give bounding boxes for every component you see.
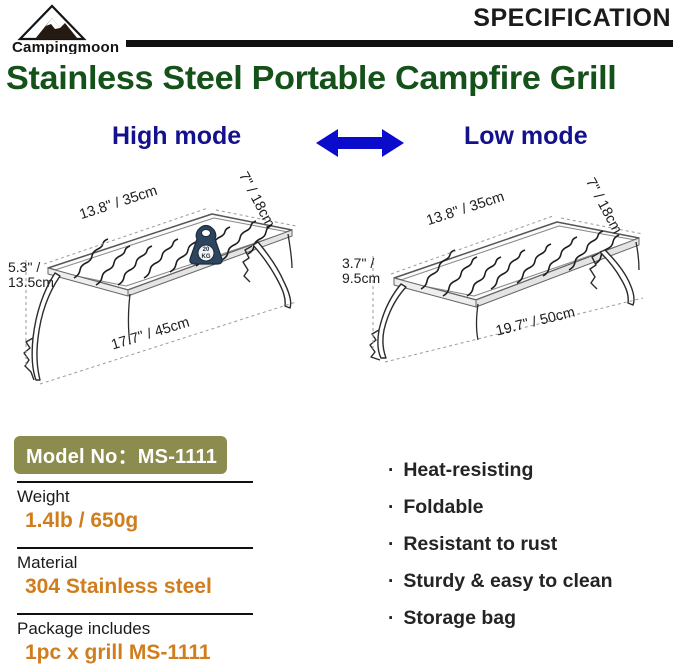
- feature-label: Storage bag: [403, 600, 516, 637]
- feature-item: · Heat-resisting: [388, 452, 674, 489]
- grill-low-illustration: [339, 172, 679, 404]
- dim-low-height: 3.7" / 9.5cm: [342, 256, 380, 286]
- specification-sheet: Campingmoon SPECIFICATION Stainless Stee…: [0, 0, 679, 670]
- feature-label: Resistant to rust: [403, 526, 557, 563]
- dim-high-height-line2: 13.5cm: [8, 275, 54, 290]
- spec-key-material: Material: [17, 552, 266, 574]
- bullet-icon: ·: [388, 600, 394, 637]
- spec-key-weight: Weight: [17, 486, 266, 508]
- feature-list: · Heat-resisting · Foldable · Resistant …: [388, 452, 674, 637]
- spec-value-weight: 1.4lb / 650g: [17, 508, 266, 534]
- section-title: SPECIFICATION: [473, 4, 671, 33]
- dim-high-height: 5.3" / 13.5cm: [8, 260, 54, 290]
- svg-text:KG: KG: [202, 254, 211, 260]
- feature-label: Foldable: [403, 489, 483, 526]
- page-header: Campingmoon SPECIFICATION: [0, 0, 679, 56]
- bullet-icon: ·: [388, 526, 394, 563]
- brand-wordmark: Campingmoon: [12, 39, 119, 54]
- spec-value-package: 1pc x grill MS-1111: [17, 640, 266, 666]
- mountain-icon: [20, 6, 84, 39]
- header-divider-bar: [126, 40, 673, 47]
- spec-row-material: Material 304 Stainless steel: [14, 549, 266, 606]
- bullet-icon: ·: [388, 563, 394, 600]
- feature-item: · Resistant to rust: [388, 526, 674, 563]
- product-title: Stainless Steel Portable Campfire Grill: [6, 58, 679, 98]
- dim-high-height-line1: 5.3" /: [8, 260, 54, 275]
- spec-value-material: 304 Stainless steel: [17, 574, 266, 600]
- bullet-icon: ·: [388, 489, 394, 526]
- feature-item: · Foldable: [388, 489, 674, 526]
- diagram-high-mode: 20 KG 13.8" / 35cm 7" / 18cm 5.3" / 13.5…: [0, 172, 340, 404]
- feature-label: Sturdy & easy to clean: [403, 563, 612, 600]
- feature-label: Heat-resisting: [403, 452, 533, 489]
- brand-logo: Campingmoon: [8, 2, 126, 54]
- model-number-badge: Model No：MS-1111: [14, 436, 227, 474]
- spec-table: Model No：MS-1111 Weight 1.4lb / 650g Mat…: [14, 436, 266, 670]
- mode-row: High mode Low mode: [0, 122, 679, 170]
- feature-item: · Sturdy & easy to clean: [388, 563, 674, 600]
- high-mode-label: High mode: [112, 122, 241, 151]
- bullet-icon: ·: [388, 452, 394, 489]
- product-diagrams: 20 KG 13.8" / 35cm 7" / 18cm 5.3" / 13.5…: [0, 172, 679, 404]
- dim-low-height-line1: 3.7" /: [342, 256, 380, 271]
- feature-item: · Storage bag: [388, 600, 674, 637]
- svg-text:20: 20: [203, 247, 210, 253]
- diagram-low-mode: 13.8" / 35cm 7" / 18cm 3.7" / 9.5cm 19.7…: [339, 172, 679, 404]
- spec-row-package: Package includes 1pc x grill MS-1111: [14, 615, 266, 670]
- low-mode-label: Low mode: [464, 122, 588, 151]
- dim-low-height-line2: 9.5cm: [342, 271, 380, 286]
- spec-key-package: Package includes: [17, 618, 266, 640]
- spec-row-weight: Weight 1.4lb / 650g: [14, 483, 266, 540]
- double-arrow-icon: [316, 126, 404, 160]
